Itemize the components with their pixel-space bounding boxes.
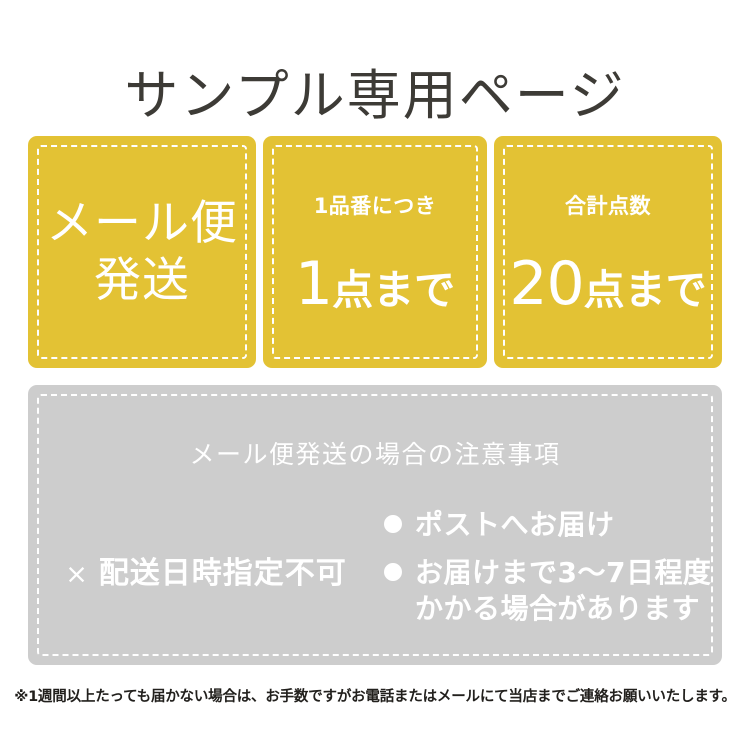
notice-body: ×配送日時指定不可 ポストへお届け お届けまで3〜7日程度 かかる場合があります: [28, 505, 722, 645]
card-total-limit: 合計点数 20点まで: [494, 136, 722, 368]
card-mail-shipping-line1: メール便: [46, 195, 238, 252]
card-per-item-limit-suffix: 点まで: [332, 266, 455, 314]
shipping-condition-cards: メール便 発送 1品番につき 1点まで 合計点数 20点まで: [28, 136, 722, 368]
bullet-dot-icon: [384, 515, 402, 533]
card-mail-shipping-content: メール便 発送: [28, 136, 256, 368]
page-title: サンプル専用ページ: [0, 66, 750, 125]
notice-heading: メール便発送の場合の注意事項: [28, 435, 722, 471]
card-mail-shipping-text: メール便 発送: [46, 195, 238, 310]
card-mail-shipping-line2: 発送: [46, 252, 238, 309]
card-per-item-limit-caption: 1品番につき: [314, 190, 437, 220]
card-total-limit-caption: 合計点数: [565, 190, 651, 220]
card-per-item-limit-value: 1点まで: [295, 254, 455, 314]
card-mail-shipping: メール便 発送: [28, 136, 256, 368]
notice-restriction-label: 配送日時指定不可: [99, 556, 347, 591]
card-per-item-limit-content: 1品番につき 1点まで: [263, 136, 487, 368]
sample-shipping-info-page: サンプル専用ページ メール便 発送 1品番につき 1点まで: [0, 0, 750, 750]
list-item: ポストへお届け: [384, 507, 722, 543]
card-total-limit-number: 20: [509, 249, 583, 319]
notice-bullet-text: ポストへお届け: [415, 507, 615, 543]
card-total-limit-content: 合計点数 20点まで: [494, 136, 722, 368]
footer-note: ※1週間以上たっても届かない場合は、お手数ですがお電話またはメールにて当店までご…: [0, 685, 750, 706]
card-total-limit-suffix: 点まで: [584, 266, 707, 314]
card-per-item-limit: 1品番につき 1点まで: [263, 136, 487, 368]
notice-restriction: ×配送日時指定不可: [28, 505, 384, 635]
list-item: お届けまで3〜7日程度 かかる場合があります: [384, 555, 722, 627]
notice-restriction-text: ×配送日時指定不可: [65, 548, 347, 592]
notice-bullet-line2: かかる場合があります: [415, 591, 711, 627]
notice-bullet-text: お届けまで3〜7日程度 かかる場合があります: [415, 555, 711, 627]
cross-icon: ×: [65, 559, 89, 590]
bullet-dot-icon: [384, 563, 402, 581]
notice-bullet-line1: ポストへお届け: [415, 508, 615, 541]
card-per-item-limit-number: 1: [295, 249, 332, 319]
card-total-limit-value: 20点まで: [509, 254, 706, 314]
notice-bullet-line1: お届けまで3〜7日程度: [415, 556, 711, 589]
notice-panel: メール便発送の場合の注意事項 ×配送日時指定不可 ポストへお届け お届: [28, 385, 722, 665]
notice-bullet-list: ポストへお届け お届けまで3〜7日程度 かかる場合があります: [384, 505, 722, 626]
